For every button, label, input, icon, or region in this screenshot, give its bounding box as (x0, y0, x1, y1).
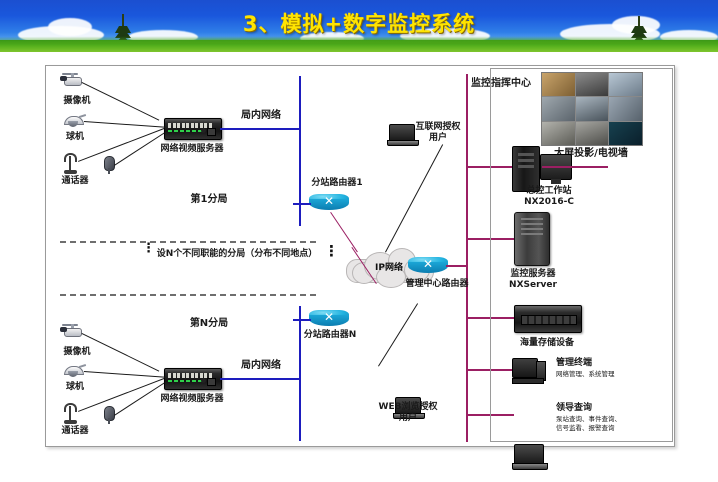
branchN-office-label: 第N分局 (174, 318, 244, 331)
section-divider (60, 241, 316, 243)
network-video-server-device (164, 118, 222, 140)
intercom-icon (62, 152, 80, 174)
branch1-office-label: 第1分局 (174, 194, 244, 207)
camera-label: 摄像机 (51, 347, 103, 358)
internet-user-link (385, 144, 443, 252)
center-router-trunk-link (446, 265, 468, 267)
internet-user-laptop-icon (387, 124, 417, 146)
router1-lan-link (293, 203, 311, 205)
network-video-server-device (164, 368, 222, 390)
center-trunk (466, 74, 468, 442)
section-divider (60, 294, 316, 296)
substation-router1-label: 分站路由器1 (294, 178, 380, 189)
lan-label-branchN: 局内网络 (228, 360, 294, 373)
branch-count-note: 设N个不同职能的分局（分布不同地点） (154, 249, 320, 260)
lan-trunk-bottom (299, 306, 301, 441)
dome-camera-icon (62, 114, 86, 128)
page-title: 3、模拟+数字监控系统 (0, 8, 718, 38)
lan-wire-branchN (220, 378, 300, 380)
dome-camera-label: 球机 (52, 382, 98, 393)
link-line (84, 121, 166, 128)
ip-network-label: IP网络 (346, 260, 432, 273)
web-user-label: WEB浏览授权用户 (375, 402, 441, 425)
lan-wire-branch1 (220, 128, 300, 130)
vertical-ellipsis: ⋮ (324, 248, 339, 254)
dome-camera-icon (62, 364, 86, 378)
substation-router1-device: ✕ (309, 194, 349, 212)
intercom-label: 通话器 (49, 426, 101, 437)
web-user-link (378, 303, 418, 366)
grass-band (0, 40, 718, 52)
internet-user-label: 互联网授权用户 (414, 122, 462, 145)
network-video-server-label: 网络视频服务器 (134, 144, 250, 155)
management-center-router-label: 管理中心路由器 (382, 279, 492, 290)
routerN-lan-link (293, 319, 311, 321)
intercom-icon (62, 402, 80, 424)
command-center-frame (490, 68, 673, 442)
title-banner: 3、模拟+数字监控系统 (0, 0, 718, 52)
network-diagram: 摄像机 球机 通话器 网络视频服务器 局内网络 第1分局 分站路由器1 ✕ ⋮ … (45, 65, 675, 447)
dome-camera-label: 球机 (52, 132, 98, 143)
network-video-server-label: 网络视频服务器 (134, 394, 250, 405)
lan-label-branch1: 局内网络 (228, 110, 294, 123)
link-line (84, 371, 166, 378)
camera-label: 摄像机 (51, 96, 103, 107)
intercom-label: 通话器 (49, 176, 101, 187)
leader-query-laptop-icon (512, 444, 546, 470)
substation-routerN-label: 分站路由器N (289, 330, 371, 341)
substation-routerN-device: ✕ (309, 310, 349, 328)
